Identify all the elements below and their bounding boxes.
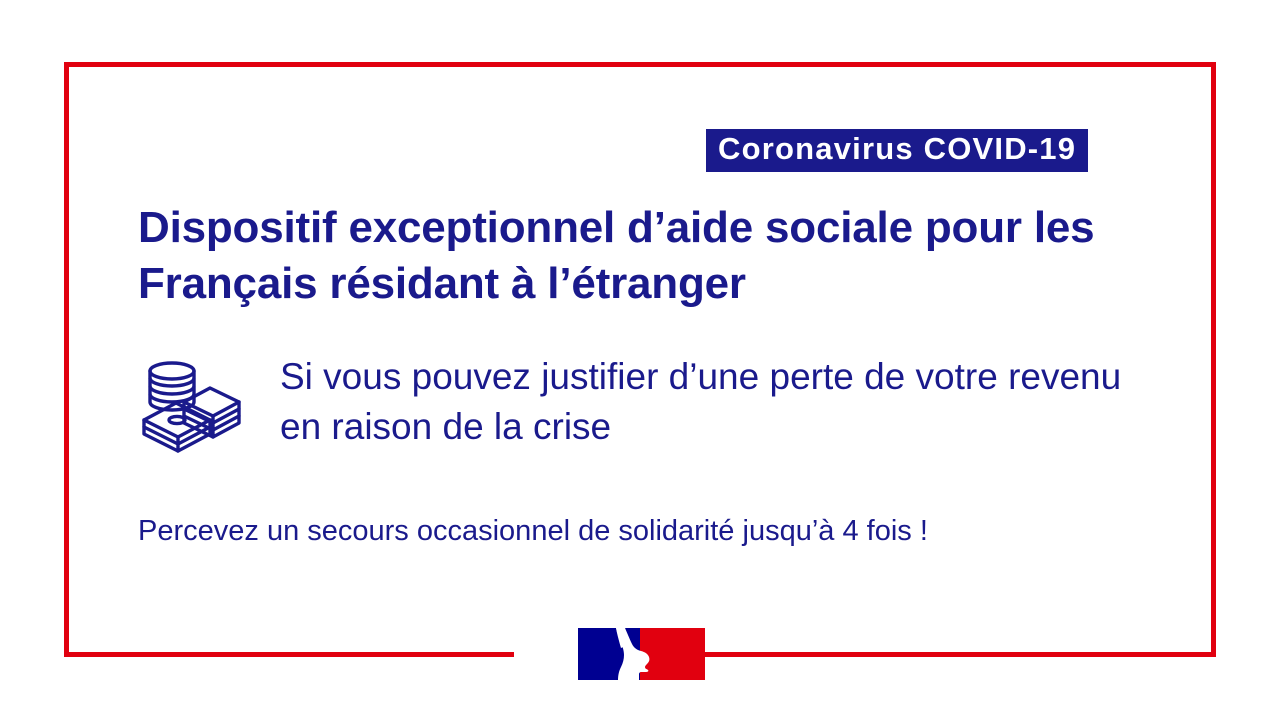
poster-canvas: Coronavirus COVID-19 Dispositif exceptio… xyxy=(0,0,1280,720)
frame-border-bottom-right xyxy=(700,652,1216,657)
frame-border-top xyxy=(64,62,1216,67)
frame-border-right xyxy=(1211,62,1216,657)
page-title: Dispositif exceptionnel d’aide sociale p… xyxy=(138,200,1168,313)
frame-border-bottom-left xyxy=(64,652,514,657)
covid-banner: Coronavirus COVID-19 xyxy=(706,129,1088,172)
money-stack-icon xyxy=(138,358,242,456)
marianne-french-republic-logo xyxy=(578,628,705,680)
frame-border-left xyxy=(64,62,69,657)
lead-section: Si vous pouvez justifier d’une perte de … xyxy=(138,352,1138,456)
lead-paragraph: Si vous pouvez justifier d’une perte de … xyxy=(280,352,1138,452)
closing-statement: Percevez un secours occasionnel de solid… xyxy=(138,513,1158,551)
